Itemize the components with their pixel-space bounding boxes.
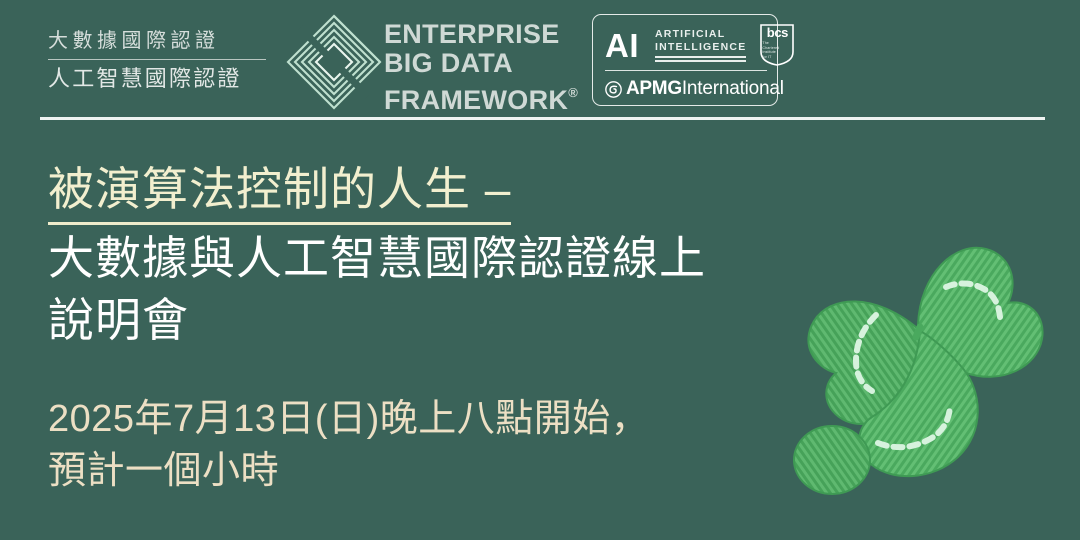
ai-underline-1: [655, 56, 746, 58]
ai-word-line-2: INTELLIGENCE: [655, 41, 746, 54]
ebdf-line-3: FRAMEWORK: [384, 85, 568, 115]
header-divider: [40, 117, 1045, 120]
clover-stem: [916, 327, 920, 337]
ebdf-diamond-icon: [286, 14, 382, 110]
bcs-sublabel: The Chartered Institute for IT: [762, 41, 792, 59]
apmg-badge-divider: [605, 70, 767, 71]
bcs-shield-icon: bcs The Chartered Institute for IT: [760, 24, 794, 66]
header-bar: 大數據國際認證 人工智慧國際認證: [0, 0, 1080, 118]
apmg-accreditation-badge: AI ARTIFICIAL INTELLIGENCE bcs The: [592, 14, 778, 106]
apmg-swirl-icon: [605, 81, 622, 98]
event-datetime-block: 2025年7月13日(日)晚上八點開始， 預計一個小時: [48, 393, 788, 497]
event-banner: 大數據國際認證 人工智慧國際認證: [0, 0, 1080, 540]
cert-title-ai: 人工智慧國際認證: [48, 63, 273, 95]
ebdf-line-2: BIG DATA: [384, 49, 578, 78]
apmg-bold-label: APMG: [626, 78, 682, 99]
registered-mark-icon: ®: [568, 85, 578, 100]
four-leaf-clover-illustration: [770, 195, 1060, 505]
event-title-line-1-wrap: 被演算法控制的人生 –: [48, 158, 788, 227]
apmg-badge-top-row: AI ARTIFICIAL INTELLIGENCE bcs The: [593, 20, 777, 70]
clover-leaf-small: [794, 426, 870, 494]
event-title-line-1: 被演算法控制的人生 –: [48, 158, 511, 225]
apmg-international-label: APMGInternational: [626, 78, 784, 100]
event-title-line-2: 大數據與人工智慧國際認證線上: [48, 227, 788, 289]
ai-underline-2: [655, 60, 746, 62]
cert-title-bigdata: 大數據國際認證: [48, 26, 273, 56]
ebdf-line-3-wrap: FRAMEWORK®: [384, 78, 578, 115]
event-date-line-2: 預計一個小時: [48, 445, 788, 497]
event-title-line-3: 說明會: [48, 289, 788, 351]
bcs-label: bcs: [760, 26, 794, 39]
apmg-badge-bottom-row: APMGInternational: [605, 76, 784, 102]
ai-word-line-1: ARTIFICIAL: [655, 28, 746, 41]
event-title-block: 被演算法控制的人生 – 大數據與人工智慧國際認證線上 說明會: [48, 158, 788, 351]
apmg-light-label: International: [682, 78, 784, 99]
bcs-sub-4: for IT: [762, 55, 792, 60]
ebdf-wordmark: ENTERPRISE BIG DATA FRAMEWORK®: [384, 20, 578, 115]
certification-titles: 大數據國際認證 人工智慧國際認證: [48, 26, 273, 95]
ebdf-line-1: ENTERPRISE: [384, 20, 578, 49]
event-date-line-1: 2025年7月13日(日)晚上八點開始，: [48, 393, 788, 445]
enterprise-big-data-framework-logo: ENTERPRISE BIG DATA FRAMEWORK®: [286, 12, 576, 110]
ai-mark-label: AI: [605, 29, 639, 62]
artificial-intelligence-label: ARTIFICIAL INTELLIGENCE: [655, 28, 746, 63]
cert-divider: [48, 59, 266, 60]
